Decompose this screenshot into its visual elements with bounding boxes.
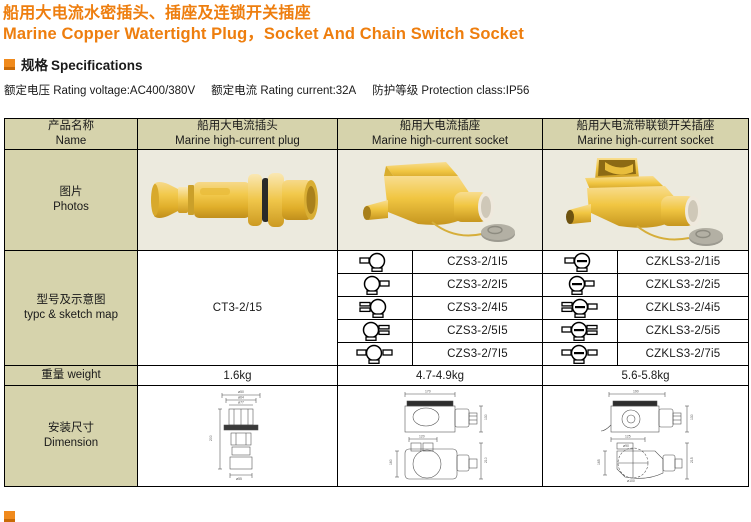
svg-text:165: 165 xyxy=(597,459,601,465)
ratings-line: 额定电压 Rating voltage:AC400/380V额定电流 Ratin… xyxy=(4,82,751,98)
rating-voltage: 额定电压 Rating voltage:AC400/380V xyxy=(4,85,195,97)
specifications-table: 产品名称 Name 船用大电流插头 Marine high-current pl… xyxy=(4,118,749,487)
photo-cell-plug xyxy=(138,150,338,251)
lockout-code-5: CZKLS3-2/7i5 xyxy=(618,343,749,366)
dimension-socket: 170 130 120 210 160 xyxy=(338,386,543,487)
column-header-socket-en: Marine high-current socket xyxy=(338,134,542,149)
row-label-name-en: Name xyxy=(5,134,137,149)
sketch-left-double-tab-icon xyxy=(356,298,394,318)
sketch-left-tab-icon xyxy=(356,252,394,272)
sketch-socket-4 xyxy=(338,320,413,343)
column-header-plug-cn: 船用大电流插头 xyxy=(138,119,337,134)
svg-text:170: 170 xyxy=(425,390,431,394)
svg-text:ø64: ø64 xyxy=(238,396,244,400)
svg-text:ø55: ø55 xyxy=(236,477,242,481)
column-header-socket: 船用大电流插座 Marine high-current socket xyxy=(338,119,543,150)
column-header-socket-cn: 船用大电流插座 xyxy=(338,119,542,134)
sketch-right-double-tab-icon xyxy=(356,321,394,341)
photo-cell-socket xyxy=(338,150,543,251)
row-label-dimension-cn: 安装尺寸 xyxy=(5,421,137,436)
column-header-lockout-cn: 船用大电流带联锁开关插座 xyxy=(543,119,748,134)
photo-cell-lockout xyxy=(543,150,749,251)
weight-plug: 1.6kg xyxy=(138,366,338,386)
sketch-lockout-4 xyxy=(543,320,618,343)
svg-text:ø90: ø90 xyxy=(623,444,629,448)
next-section-heading xyxy=(4,511,21,522)
row-label-weight-en: weight xyxy=(67,369,100,381)
svg-text:160: 160 xyxy=(389,459,393,465)
table-row-type-1: 型号及示意图 typc & sketch map CT3-2/15 CZS3-2… xyxy=(5,251,749,274)
sketch-both-tabs-lockout-icon xyxy=(558,344,602,364)
row-label-photos-en: Photos xyxy=(5,200,137,215)
sketch-both-tabs-icon xyxy=(353,344,397,364)
marine-high-current-socket-photo xyxy=(358,154,523,246)
page-title-en: Marine Copper Watertight Plug，Socket And… xyxy=(3,24,748,45)
lockout-code-1: CZKLS3-2/1i5 xyxy=(618,251,749,274)
plug-dimension-drawing-icon: ø50ø64ø77 ø55 200 xyxy=(198,389,278,483)
svg-text:ø50: ø50 xyxy=(238,390,244,394)
svg-text:190: 190 xyxy=(633,390,639,394)
orange-square-bullet-icon-next xyxy=(4,511,15,522)
socket-code-1: CZS3-2/1I5 xyxy=(413,251,543,274)
plug-type-code: CT3-2/15 xyxy=(138,251,338,366)
column-header-plug: 船用大电流插头 Marine high-current plug xyxy=(138,119,338,150)
sketch-right-tab-lockout-icon xyxy=(561,275,599,295)
svg-text:210: 210 xyxy=(484,457,488,463)
svg-text:130: 130 xyxy=(484,414,488,420)
marine-high-current-plug-photo xyxy=(148,154,328,246)
sketch-lockout-3 xyxy=(543,297,618,320)
rating-current: 额定电流 Rating current:32A xyxy=(211,85,356,97)
page-title-cn: 船用大电流水密插头、插座及连锁开关插座 xyxy=(3,4,748,23)
sketch-socket-2 xyxy=(338,274,413,297)
row-label-weight-cn: 重量 xyxy=(41,369,64,381)
column-header-lockout-en: Marine high-current socket xyxy=(543,134,748,149)
specifications-heading-text: 规格Specifications xyxy=(21,54,143,74)
sketch-left-double-tab-lockout-icon xyxy=(558,298,602,318)
marine-high-current-socket-lockout-photo xyxy=(561,154,731,246)
orange-square-bullet-icon xyxy=(4,59,15,70)
row-label-dimension-en: Dimension xyxy=(5,436,137,451)
sketch-socket-3 xyxy=(338,297,413,320)
svg-text:ø77: ø77 xyxy=(238,401,244,405)
socket-code-3: CZS3-2/4I5 xyxy=(413,297,543,320)
sketch-right-double-tab-lockout-icon xyxy=(558,321,602,341)
row-label-type-en: typc & sketch map xyxy=(5,308,137,323)
row-label-type-cn: 型号及示意图 xyxy=(5,293,137,308)
svg-text:200: 200 xyxy=(209,435,213,441)
specifications-heading: 规格Specifications xyxy=(4,54,751,74)
row-label-weight: 重量 weight xyxy=(5,366,138,386)
row-label-dimension: 安装尺寸 Dimension xyxy=(5,386,138,487)
weight-lockout: 5.6-5.8kg xyxy=(543,366,749,386)
row-label-photos: 图片 Photos xyxy=(5,150,138,251)
sketch-socket-1 xyxy=(338,251,413,274)
lockout-code-4: CZKLS3-2/5i5 xyxy=(618,320,749,343)
svg-text:ø100: ø100 xyxy=(627,479,635,483)
socket-dimension-drawing-icon: 170 130 120 210 160 xyxy=(381,389,499,483)
socket-code-2: CZS3-2/2I5 xyxy=(413,274,543,297)
svg-text:130: 130 xyxy=(690,414,694,420)
socket-code-4: CZS3-2/5I5 xyxy=(413,320,543,343)
specifications-heading-cn: 规格 xyxy=(21,58,48,73)
row-label-photos-cn: 图片 xyxy=(5,185,137,200)
dimension-lockout: 190 130 125 215 165 ø90 ø100 xyxy=(543,386,749,487)
sketch-lockout-5 xyxy=(543,343,618,366)
lockout-code-3: CZKLS3-2/4i5 xyxy=(618,297,749,320)
sketch-lockout-1 xyxy=(543,251,618,274)
sketch-lockout-2 xyxy=(543,274,618,297)
svg-text:125: 125 xyxy=(625,435,631,439)
dimension-plug: ø50ø64ø77 ø55 200 xyxy=(138,386,338,487)
weight-socket: 4.7-4.9kg xyxy=(338,366,543,386)
row-label-name-cn: 产品名称 xyxy=(5,119,137,134)
column-header-plug-en: Marine high-current plug xyxy=(138,134,337,149)
row-label-name: 产品名称 Name xyxy=(5,119,138,150)
socket-code-5: CZS3-2/7I5 xyxy=(413,343,543,366)
column-header-lockout: 船用大电流带联锁开关插座 Marine high-current socket xyxy=(543,119,749,150)
svg-text:120: 120 xyxy=(419,435,425,439)
row-label-type: 型号及示意图 typc & sketch map xyxy=(5,251,138,366)
lockout-code-2: CZKLS3-2/2i5 xyxy=(618,274,749,297)
sketch-left-tab-lockout-icon xyxy=(561,252,599,272)
svg-text:215: 215 xyxy=(690,457,694,463)
socket-lockout-dimension-drawing-icon: 190 130 125 215 165 ø90 ø100 xyxy=(587,389,705,483)
sketch-right-tab-icon xyxy=(356,275,394,295)
protection-class: 防护等级 Protection class:IP56 xyxy=(372,85,529,97)
table-row-weight: 重量 weight 1.6kg 4.7-4.9kg 5.6-5.8kg xyxy=(5,366,749,386)
page-header: 船用大电流水密插头、插座及连锁开关插座 Marine Copper Watert… xyxy=(0,0,751,45)
specifications-heading-en: Specifications xyxy=(51,58,143,73)
table-row-photos: 图片 Photos xyxy=(5,150,749,251)
table-row-dimension: 安装尺寸 Dimension xyxy=(5,386,749,487)
sketch-socket-5 xyxy=(338,343,413,366)
table-row-name: 产品名称 Name 船用大电流插头 Marine high-current pl… xyxy=(5,119,749,150)
